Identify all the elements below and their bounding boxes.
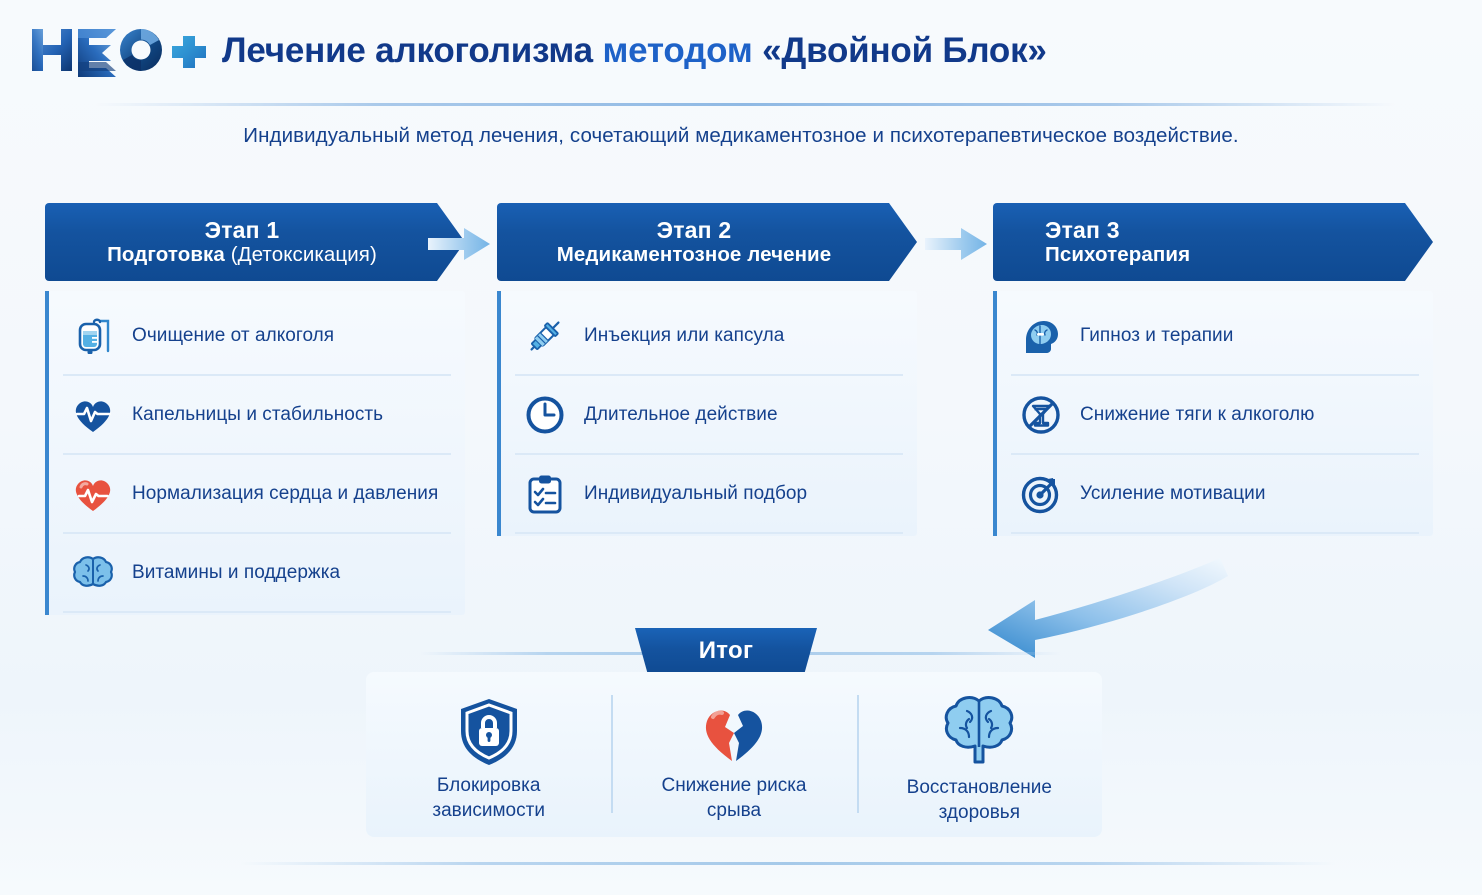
list-item-label: Витамины и поддержка — [132, 562, 340, 584]
list-item-label: Нормализация сердца и давления — [132, 483, 438, 505]
iv-drip-bag-icon — [69, 312, 117, 360]
stage-1-step-label: Этап 1 — [205, 217, 280, 243]
clipboard-checklist-icon — [521, 470, 569, 518]
list-item[interactable]: Гипноз и терапии — [1011, 297, 1419, 376]
list-item[interactable]: Длительное действие — [515, 376, 903, 455]
list-item-label: Очищение от алкоголя — [132, 325, 334, 347]
stage-1-banner: Этап 1 Подготовка (Детоксикация) — [45, 203, 465, 281]
result-item-label-line1: Блокировка — [437, 775, 541, 796]
header-divider — [95, 103, 1395, 106]
result-item-label-line2: зависимости — [432, 800, 545, 821]
result-item-label: Блокировка зависимости — [432, 773, 545, 823]
stage-2-name: Медикаментозное лечение — [557, 243, 832, 267]
clock-icon — [521, 391, 569, 439]
result-item-label-line1: Восстановление — [907, 777, 1052, 798]
list-item[interactable]: Инъекция или капсула — [515, 297, 903, 376]
stage-3-name: Психотерапия — [1045, 243, 1190, 267]
stage-1-items: Очищение от алкоголя Капельницы и стабил… — [45, 291, 465, 615]
list-item-label: Усиление мотивации — [1080, 483, 1266, 505]
stage-2-items: Инъекция или капсула Длительное действие — [497, 291, 917, 536]
page-subtitle: Индивидуальный метод лечения, сочетающий… — [0, 124, 1482, 148]
broken-heart-icon — [696, 693, 772, 769]
stage-1-name-bold: Подготовка — [107, 243, 225, 266]
stage-2-step-label: Этап 2 — [657, 217, 732, 243]
result-item-label-line2: здоровья — [939, 802, 1020, 823]
list-item[interactable]: Индивидуальный подбор — [515, 455, 903, 534]
list-item[interactable]: Усиление мотивации — [1011, 455, 1419, 534]
stage-3-name-bold: Психотерапия — [1045, 243, 1190, 266]
stages-section: Этап 1 Подготовка (Детоксикация) — [0, 203, 1482, 563]
arrow-stage2-to-stage3 — [925, 227, 987, 261]
result-item-label: Снижение риска срыва — [661, 773, 806, 823]
list-item-label: Инъекция или капсула — [584, 325, 784, 347]
stage-1-name: Подготовка (Детоксикация) — [107, 243, 377, 267]
stage-card-2: Этап 2 Медикаментозное лечение — [497, 203, 917, 536]
result-item-1[interactable]: Блокировка зависимости — [366, 691, 611, 819]
brain-large-icon — [936, 693, 1022, 771]
stage-card-3: Этап 3 Психотерапия Гипноз и т — [993, 203, 1433, 536]
no-alcohol-glass-icon — [1017, 391, 1065, 439]
stage-2-banner: Этап 2 Медикаментозное лечение — [497, 203, 917, 281]
result-banner-label: Итог — [699, 637, 754, 665]
stage-3-banner: Этап 3 Психотерапия — [993, 203, 1433, 281]
list-item[interactable]: Капельницы и стабильность — [63, 376, 451, 455]
page-title: Лечение алкоголизма методом «Двойной Бло… — [222, 33, 1047, 68]
stage-card-1: Этап 1 Подготовка (Детоксикация) — [45, 203, 465, 615]
result-item-label-line1: Снижение риска — [661, 775, 806, 796]
list-item-label: Индивидуальный подбор — [584, 483, 807, 505]
result-banner: Итог — [635, 628, 817, 674]
result-item-3[interactable]: Восстановление здоровья — [857, 691, 1102, 819]
infographic-page: Лечение алкоголизма методом «Двойной Бло… — [0, 0, 1482, 895]
list-item[interactable]: Нормализация сердца и давления — [63, 455, 451, 534]
stage-1-name-light: (Детоксикация) — [225, 243, 377, 266]
list-item-label: Капельницы и стабильность — [132, 404, 383, 426]
result-item-2[interactable]: Снижение риска срыва — [611, 691, 856, 819]
arrow-stage1-to-stage2 — [428, 227, 490, 261]
title-segment-1: Лечение алкоголизма — [222, 31, 602, 70]
syringe-icon — [521, 312, 569, 360]
head-brain-icon — [1017, 312, 1065, 360]
result-card: Блокировка зависимости Снижение риска ср… — [366, 672, 1102, 837]
heart-pulse-red-icon — [69, 470, 117, 518]
heart-pulse-blue-icon — [69, 391, 117, 439]
result-item-label: Восстановление здоровья — [907, 775, 1052, 825]
brain-icon — [69, 549, 117, 597]
title-segment-3: «Двойной Блок» — [762, 31, 1047, 70]
neo-plus-logo — [28, 19, 208, 81]
list-item-label: Гипноз и терапии — [1080, 325, 1233, 347]
result-item-label-line2: срыва — [707, 800, 761, 821]
stage-3-step-label: Этап 3 — [1045, 217, 1120, 243]
curved-arrow-stage3-to-result — [980, 548, 1310, 666]
title-segment-2: методом — [602, 31, 762, 70]
list-item[interactable]: Снижение тяги к алкоголю — [1011, 376, 1419, 455]
list-item[interactable]: Витамины и поддержка — [63, 534, 451, 613]
bottom-divider — [240, 862, 1335, 865]
stage-2-name-bold: Медикаментозное лечение — [557, 243, 832, 266]
list-item-label: Длительное действие — [584, 404, 778, 426]
stage-3-items: Гипноз и терапии Снижение тяги к алкогол… — [993, 291, 1433, 536]
list-item-label: Снижение тяги к алкоголю — [1080, 404, 1314, 426]
target-arrow-icon — [1017, 470, 1065, 518]
list-item[interactable]: Очищение от алкоголя — [63, 297, 451, 376]
header: Лечение алкоголизма методом «Двойной Бло… — [0, 0, 1482, 100]
shield-lock-icon — [451, 693, 527, 769]
